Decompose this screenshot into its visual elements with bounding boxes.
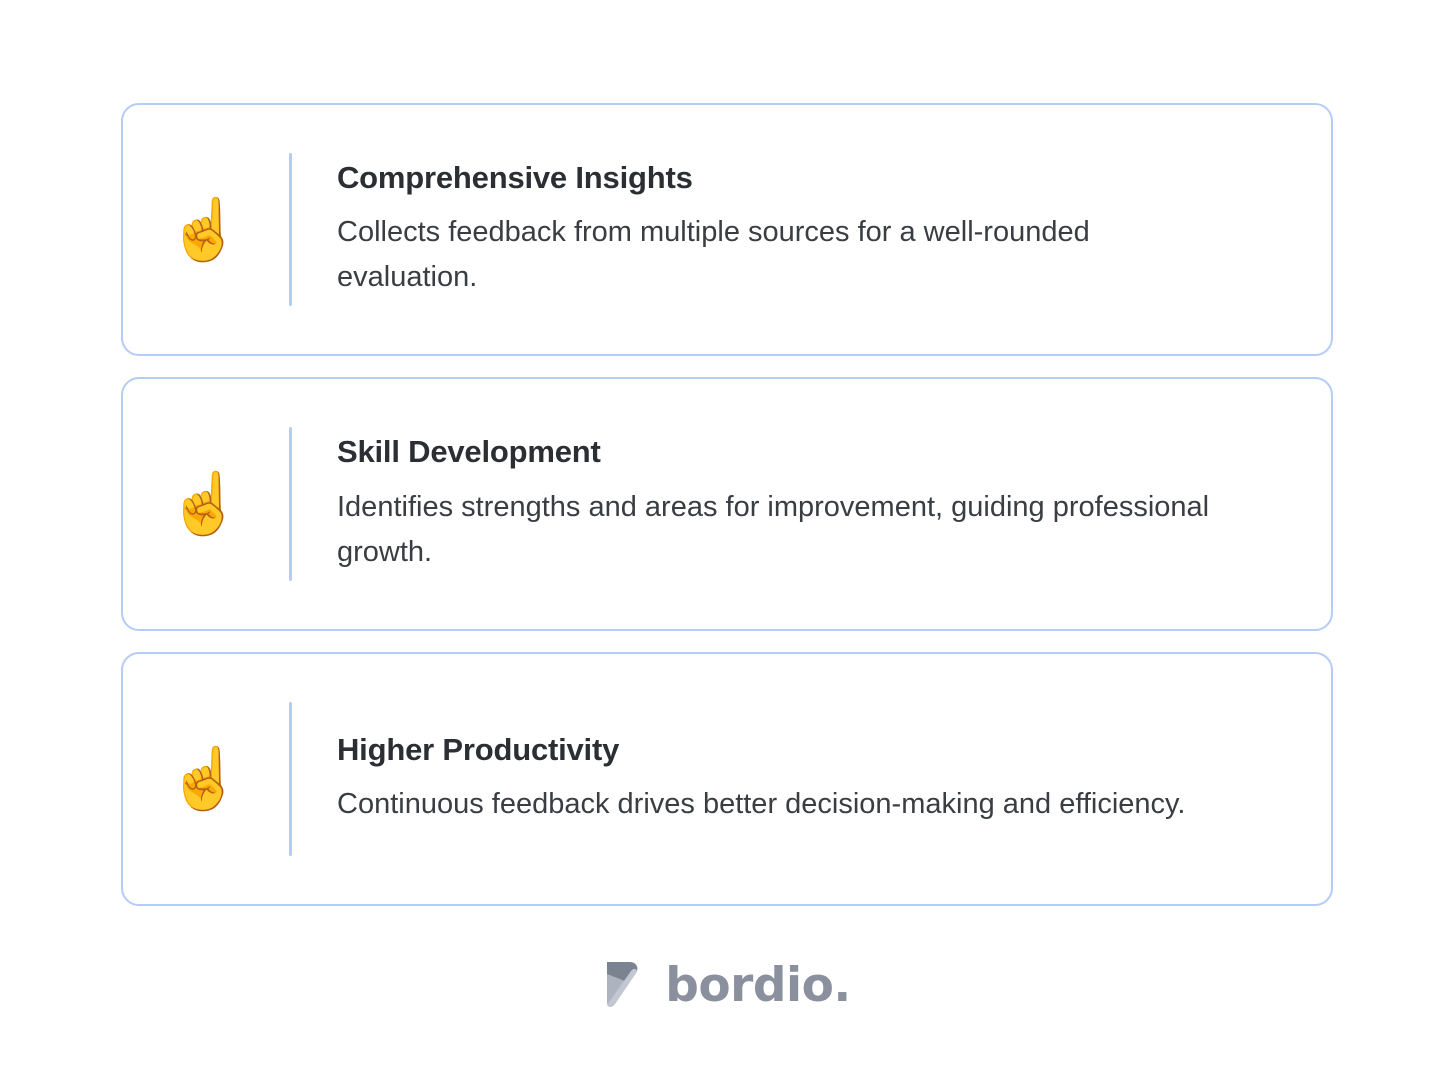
card-description: Collects feedback from multiple sources … bbox=[337, 210, 1227, 300]
feature-card-list: ☝️ Comprehensive Insights Collects feedb… bbox=[121, 103, 1333, 906]
bordio-chevron-icon bbox=[603, 958, 649, 1012]
index-pointing-up-icon: ☝️ bbox=[167, 474, 242, 534]
card-title: Skill Development bbox=[337, 433, 1291, 470]
card-description: Continuous feedback drives better decisi… bbox=[337, 782, 1237, 827]
index-pointing-up-icon: ☝️ bbox=[167, 749, 242, 809]
card-content: Skill Development Identifies strengths a… bbox=[292, 433, 1331, 574]
card-title: Higher Productivity bbox=[337, 731, 1291, 768]
page-root: ☝️ Comprehensive Insights Collects feedb… bbox=[0, 0, 1454, 1090]
bordio-wordmark: bordio. bbox=[665, 962, 851, 1009]
bordio-logo[interactable]: bordio. bbox=[603, 958, 851, 1012]
card-icon-wrap: ☝️ bbox=[167, 200, 289, 260]
feature-card[interactable]: ☝️ Higher Productivity Continuous feedba… bbox=[121, 652, 1333, 906]
card-icon-wrap: ☝️ bbox=[167, 749, 289, 809]
footer: bordio. bbox=[0, 958, 1454, 1012]
card-content: Comprehensive Insights Collects feedback… bbox=[292, 159, 1331, 300]
card-icon-wrap: ☝️ bbox=[167, 474, 289, 534]
card-title: Comprehensive Insights bbox=[337, 159, 1291, 196]
card-description: Identifies strengths and areas for impro… bbox=[337, 485, 1287, 575]
feature-card[interactable]: ☝️ Skill Development Identifies strength… bbox=[121, 377, 1333, 631]
index-pointing-up-icon: ☝️ bbox=[167, 200, 242, 260]
feature-card[interactable]: ☝️ Comprehensive Insights Collects feedb… bbox=[121, 103, 1333, 356]
card-content: Higher Productivity Continuous feedback … bbox=[292, 731, 1331, 827]
